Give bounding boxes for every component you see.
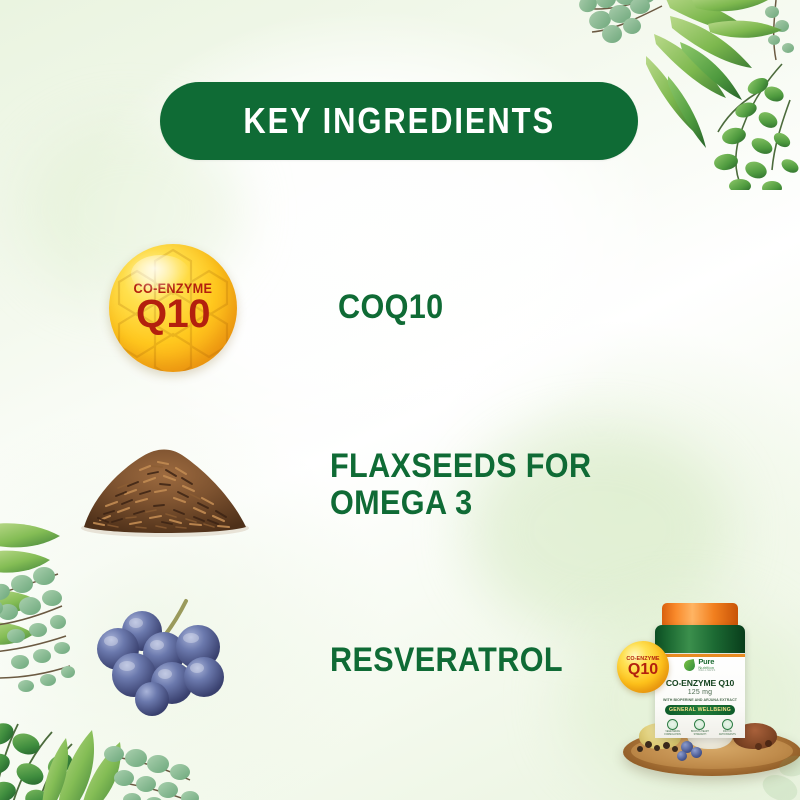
peppercorn bbox=[637, 746, 643, 752]
certification-label: BOOSTS HEART STRENGTH bbox=[688, 731, 712, 736]
certification-item: RICH IN ANTIOXIDANTS bbox=[715, 719, 739, 736]
ingredient-label-flaxseeds: FLAXSEEDS FOR OMEGA 3 bbox=[330, 448, 591, 521]
heart-icon bbox=[694, 719, 705, 730]
grape-cluster-icon bbox=[90, 595, 240, 725]
infographic-page: KEY INGREDIENTS CO-ENZYME Q10 bbox=[0, 0, 800, 800]
ingredient-label-resveratrol: RESVERATROL bbox=[330, 642, 563, 679]
label-wellbeing-badge: GENERAL WELLBEING bbox=[665, 705, 735, 715]
blueberry bbox=[691, 747, 702, 758]
flaxseed-icon-slot bbox=[0, 428, 330, 543]
flaxseed-pile-icon bbox=[70, 428, 260, 543]
bottle-cap bbox=[662, 603, 738, 627]
product-bottle-image: Pure Nutrition WELLNESS CO-ENZYME Q10 12… bbox=[615, 595, 800, 800]
certification-label: RICH IN ANTIOXIDANTS bbox=[715, 731, 739, 736]
peppercorn bbox=[672, 746, 678, 752]
blueberry bbox=[677, 751, 687, 761]
ingredient-row-flaxseeds: FLAXSEEDS FOR OMEGA 3 bbox=[0, 425, 800, 545]
label-product-title: CO-ENZYME Q10 bbox=[655, 678, 745, 688]
certification-row: VEGETARIAN FORMULATION BOOSTS HEART STRE… bbox=[659, 719, 741, 736]
certification-item: VEGETARIAN FORMULATION bbox=[661, 719, 685, 736]
seal-main: Q10 bbox=[628, 662, 658, 678]
ingredient-label-coq10: COQ10 bbox=[338, 289, 444, 326]
leaf-icon bbox=[683, 659, 696, 672]
label-dose: 125 mg bbox=[655, 689, 745, 696]
peppercorn bbox=[663, 742, 670, 749]
grape-icon-slot bbox=[0, 595, 330, 725]
coq10-badge-main: Q10 bbox=[136, 294, 210, 334]
label-wellbeing-text: GENERAL WELLBEING bbox=[669, 707, 731, 713]
peppercorn bbox=[654, 745, 660, 751]
brand-tagline: WELLNESS bbox=[698, 670, 715, 673]
label-extra-text: WITH BIOPERINE AND ARJUNA EXTRACT bbox=[655, 698, 745, 702]
ingredient-row-coq10: CO-ENZYME Q10 COQ10 bbox=[0, 240, 800, 375]
coq10-sphere-icon: CO-ENZYME Q10 bbox=[109, 244, 237, 372]
vegetarian-icon bbox=[667, 719, 678, 730]
coq10-icon-slot: CO-ENZYME Q10 bbox=[0, 244, 338, 372]
header-banner: KEY INGREDIENTS bbox=[160, 82, 638, 160]
certification-label: VEGETARIAN FORMULATION bbox=[661, 731, 685, 736]
peppercorn bbox=[645, 741, 652, 748]
page-title: KEY INGREDIENTS bbox=[243, 100, 555, 142]
bottle-q10-seal-icon: CO-ENZYME Q10 bbox=[617, 641, 669, 693]
peppercorn bbox=[755, 743, 762, 750]
peppercorn bbox=[765, 740, 772, 747]
brand-wordmark: Pure Nutrition WELLNESS bbox=[698, 658, 715, 672]
certification-item: BOOSTS HEART STRENGTH bbox=[688, 719, 712, 736]
antioxidant-icon bbox=[722, 719, 733, 730]
